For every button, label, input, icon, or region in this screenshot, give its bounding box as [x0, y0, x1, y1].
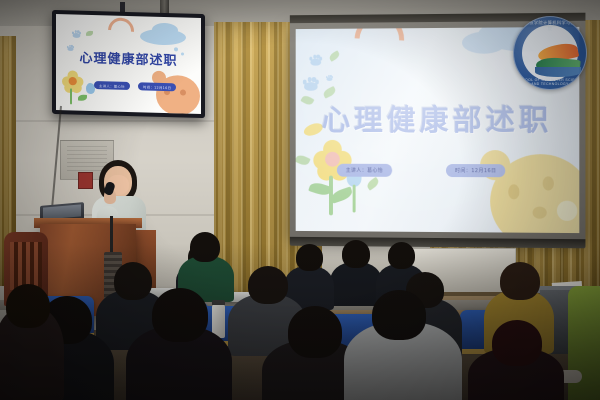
audience-head: [6, 284, 50, 328]
logo-blue-wave-icon: [535, 67, 581, 77]
bear-cheek-shape: [557, 201, 577, 221]
slide-title: 心理健康部述职: [322, 96, 553, 138]
wall-red-switch: [78, 172, 93, 189]
wall-tv-monitor: 心理健康部述职 主讲人：葛心怡 时间：12月16日: [52, 10, 205, 118]
stem-shape: [353, 185, 356, 213]
leaf-shape: [330, 187, 354, 204]
dot-shape: [181, 52, 184, 55]
audience-head: [288, 306, 342, 358]
leaf-shape: [328, 50, 341, 62]
bear-nose-shape: [533, 207, 547, 219]
audience-head: [372, 290, 426, 340]
leaf-shape: [296, 153, 311, 167]
orange-arc-shape: [344, 27, 414, 75]
paw-icon: [67, 45, 74, 51]
audience-head: [388, 242, 415, 269]
bear-eye-shape: [543, 176, 554, 190]
cloud-shape: [152, 23, 178, 38]
mic-stand-stem: [110, 216, 113, 256]
logo-ring-text-top: 湖南科技学院计算机科学与技术学院: [514, 20, 586, 32]
leaf-shape: [365, 177, 380, 191]
paw-icon: [326, 75, 333, 81]
lecture-hall-photo: 心理健康部述职 主讲人：葛心怡 时间：12月16日: [0, 0, 600, 400]
orange-arc-shape: [103, 14, 140, 49]
audience-head: [152, 288, 208, 342]
cloud-shape: [462, 31, 506, 53]
audience-head: [492, 320, 542, 366]
audience-head: [500, 262, 540, 300]
tv-screen: 心理健康部述职 主讲人：葛心怡 时间：12月16日: [56, 14, 201, 114]
audience-head: [190, 232, 220, 262]
paw-icon: [72, 30, 81, 38]
tv-badge-speaker: 主讲人：葛心怡: [94, 81, 130, 90]
logo-inner-disc: [522, 25, 578, 81]
tv-badge-time: 时间：12月16日: [138, 82, 176, 91]
slide-badge-speaker: 主讲人：葛心怡: [337, 164, 392, 177]
slide-badge-time: 时间：12月16日: [446, 164, 506, 177]
university-logo-watermark: 湖南科技学院计算机科学与技术学院 SCHOOL OF COMPUTER SCIE…: [513, 16, 587, 90]
paw-icon: [309, 55, 322, 66]
bottle-cap: [212, 300, 225, 305]
leaf-shape: [300, 94, 314, 107]
bear-eye-shape: [180, 89, 186, 95]
audience-person: [330, 262, 382, 306]
audience-head: [248, 266, 288, 304]
tv-slide-title: 心理健康部述职: [79, 47, 177, 69]
audience-head: [342, 240, 370, 268]
stem-shape: [70, 88, 72, 104]
bear-eye-shape: [508, 184, 519, 199]
paw-icon: [303, 77, 319, 91]
leaf-shape: [78, 95, 87, 101]
audience-head: [296, 244, 323, 271]
leaf-shape: [86, 31, 93, 36]
flower-shape: [62, 70, 84, 93]
audience-head: [114, 262, 152, 300]
logo-ring-text-bottom: SCHOOL OF COMPUTER SCIENCE AND TECHNOLOG…: [514, 78, 586, 86]
